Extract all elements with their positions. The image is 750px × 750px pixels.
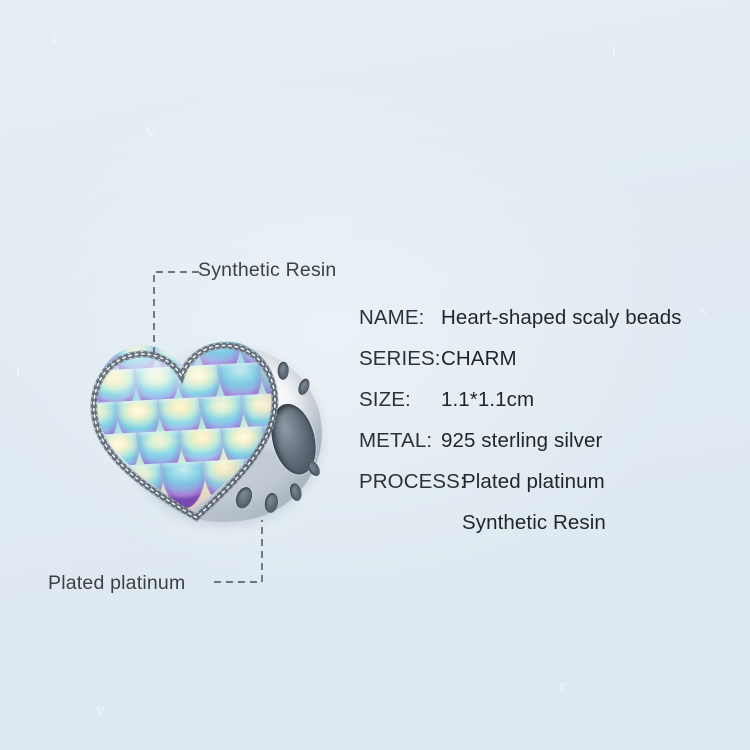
resin-scale [87,435,100,483]
watermark-mark: v [96,700,105,720]
watermark-mark: r [560,676,566,696]
spec-value-series: CHARM [441,347,517,371]
watermark-mark: r [612,40,618,60]
resin-scale [244,457,287,505]
spec-label-process: PROCESS: [359,470,462,494]
perforation-hole [296,377,311,396]
annotation-label-plated-platinum: Plated platinum [48,572,185,595]
leader-line-plated-platinum [212,518,268,588]
perforation-hole [305,458,322,478]
annotation-label-synthetic-resin: Synthetic Resin [198,259,336,282]
product-detail-image: r v r v r v r [0,0,750,750]
spec-label-name: NAME: [359,306,441,330]
perforation-hole [288,482,303,502]
watermark-mark: v [146,122,155,142]
spec-value-size: 1.1*1.1cm [441,388,534,412]
specification-list: NAME: Heart-shaped scaly beads SERIES: C… [359,306,729,549]
spec-label-series: SERIES: [359,347,441,371]
spec-row-process-extra: Synthetic Resin [359,511,729,549]
spec-row-process: PROCESS: Plated platinum [359,470,729,511]
spec-row-name: NAME: Heart-shaped scaly beads [359,306,729,347]
watermark-mark: r [16,360,22,380]
spec-value-process: Plated platinum [462,470,605,494]
spec-row-metal: METAL: 925 sterling silver [359,429,729,470]
resin-scale [87,465,124,513]
spec-value-metal: 925 sterling silver [441,429,602,453]
spec-label-size: SIZE: [359,388,441,412]
spec-value-process-extra: Synthetic Resin [462,511,606,535]
spec-row-series: SERIES: CHARM [359,347,729,388]
spec-value-name: Heart-shaped scaly beads [441,306,682,330]
spec-label-metal: METAL: [359,429,441,453]
watermark-mark: r [52,28,58,48]
spec-row-size: SIZE: 1.1*1.1cm [359,388,729,429]
scale-pattern [87,331,286,521]
heart-resin-face [87,331,286,521]
